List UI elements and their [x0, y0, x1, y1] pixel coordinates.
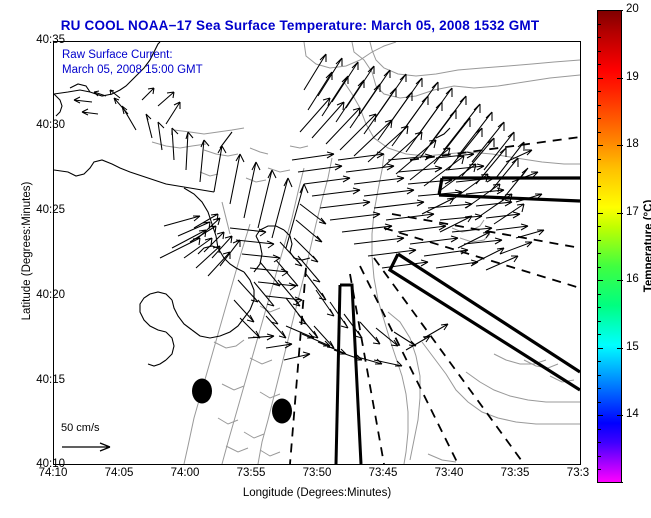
colorbar-tick-label: 14: [626, 408, 639, 420]
x-tick-label: 73:40: [419, 467, 479, 479]
x-tick-label: 73:50: [287, 467, 347, 479]
x-axis-label: Longitude (Degrees:Minutes): [53, 487, 581, 499]
colorbar-tick-label: 15: [626, 341, 639, 353]
x-tick-label: 74:05: [89, 467, 149, 479]
station-marker: [192, 379, 212, 404]
current-annotation: Raw Surface Current: March 05, 2008 15:0…: [62, 48, 203, 78]
colorbar-tick-label: 19: [626, 71, 639, 83]
colorbar[interactable]: [597, 10, 622, 483]
colorbar-tick-label: 16: [626, 273, 639, 285]
y-axis-label: Latitude (Degrees:Minutes): [21, 146, 33, 356]
colorbar-tick-label: 20: [626, 3, 639, 15]
colorbar-title: Temperature (°C): [643, 166, 651, 326]
x-tick-label: 74:10: [23, 467, 83, 479]
surface-current-vectors: [74, 54, 544, 366]
dashed-radial-lines: [290, 137, 580, 464]
colorbar-tick-label: 18: [626, 138, 639, 150]
figure-title: RU COOL NOAA−17 Sea Surface Temperature:…: [0, 18, 600, 33]
scale-legend-label: 50 cm/s: [61, 422, 100, 434]
y-tick-label: 40:15: [17, 374, 65, 386]
map-plot-area[interactable]: Raw Surface Current: March 05, 2008 15:0…: [53, 41, 581, 465]
current-annotation-line1: Raw Surface Current:: [62, 48, 203, 63]
current-annotation-line2: March 05, 2008 15:00 GMT: [62, 63, 203, 78]
y-tick-label: 40:35: [17, 34, 65, 46]
x-tick-label: 73:45: [353, 467, 413, 479]
x-tick-label: 73:35: [485, 467, 545, 479]
station-marker: [272, 399, 292, 424]
map-graphics: [54, 42, 580, 464]
colorbar-tick-label: 17: [626, 206, 639, 218]
x-tick-label: 74:00: [155, 467, 215, 479]
scale-arrow-icon: [62, 443, 110, 451]
figure-canvas: RU COOL NOAA−17 Sea Surface Temperature:…: [0, 0, 651, 518]
x-tick-label: 73:55: [221, 467, 281, 479]
y-tick-label: 40:30: [17, 119, 65, 131]
